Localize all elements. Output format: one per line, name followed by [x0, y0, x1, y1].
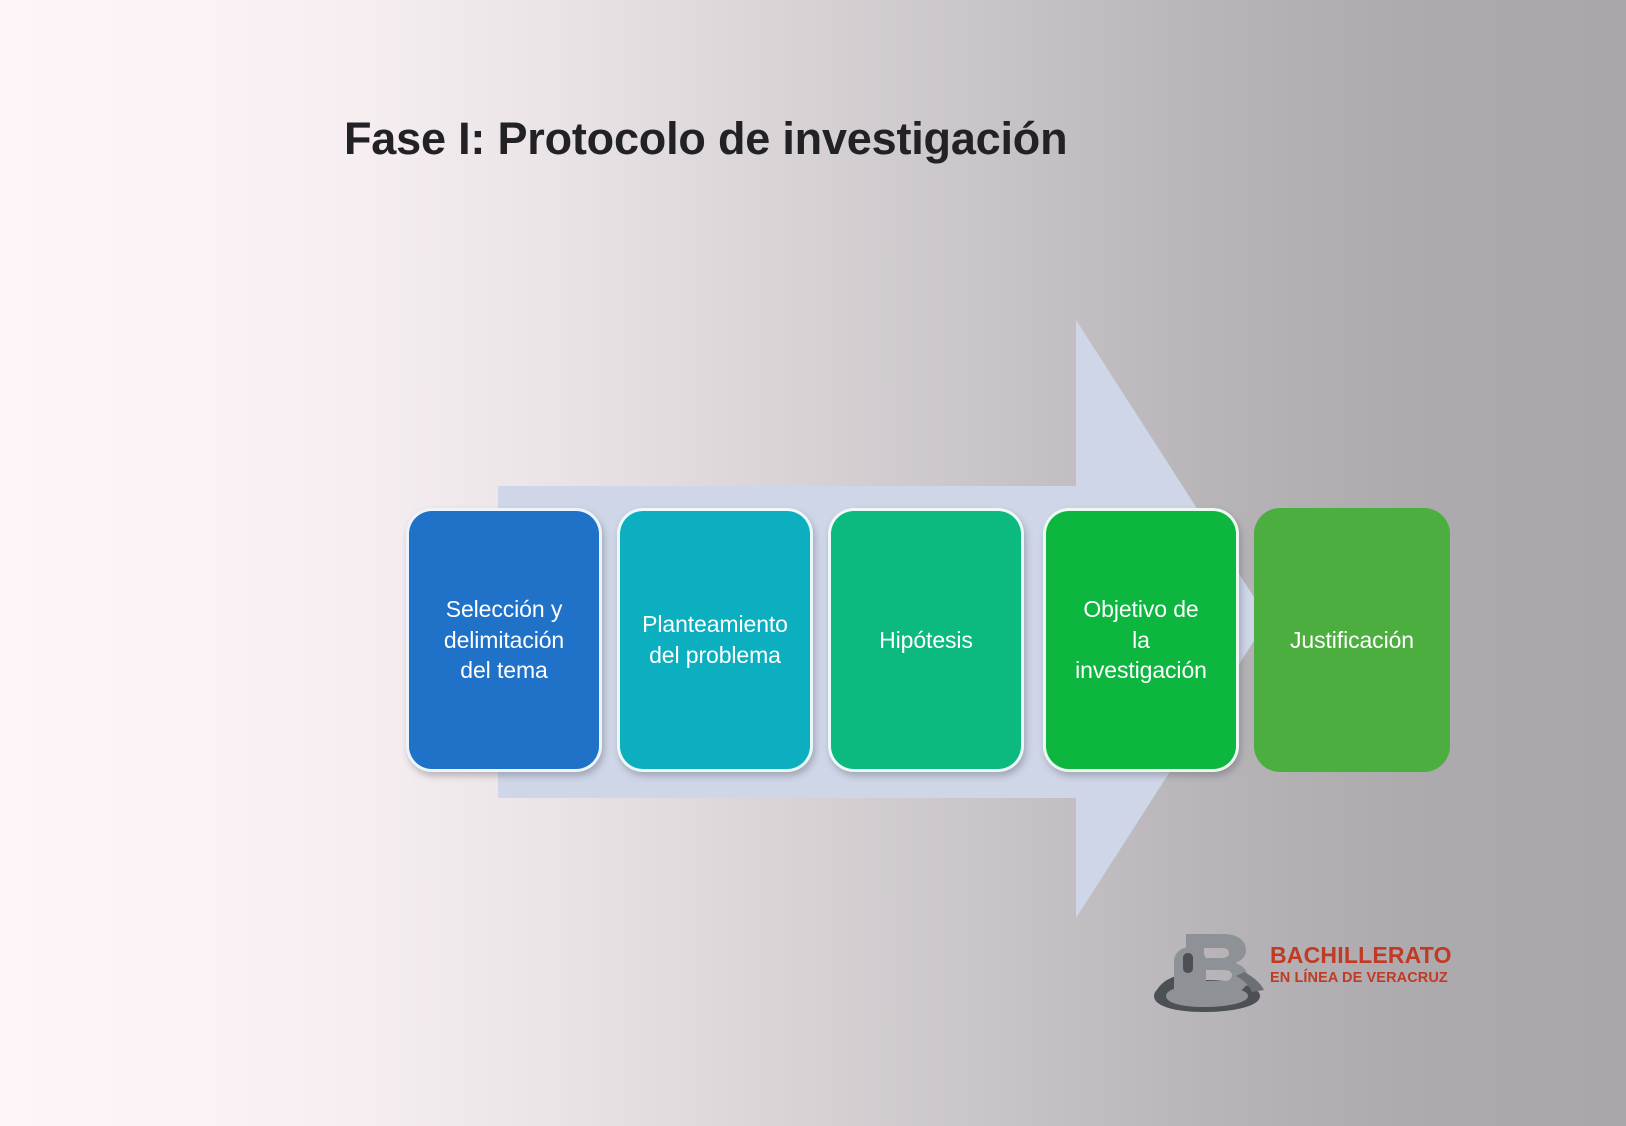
process-step-5[interactable]: Justificación — [1254, 508, 1450, 772]
bachillerato-emblem-icon — [1148, 926, 1268, 1014]
process-step-3-label: Hipótesis — [879, 625, 973, 656]
process-step-1-label: Selección y delimitación del tema — [444, 594, 564, 686]
page-title: Fase I: Protocolo de investigación — [344, 114, 1067, 164]
logo-text: BACHILLERATO EN LÍNEA DE VERACRUZ — [1270, 944, 1420, 986]
logo-mouse-button — [1183, 953, 1193, 973]
process-step-1[interactable]: Selección y delimitación del tema — [406, 508, 602, 772]
slide-canvas: Fase I: Protocolo de investigación Selec… — [0, 0, 1626, 1126]
process-step-4[interactable]: Objetivo de la investigación — [1043, 508, 1239, 772]
process-step-4-label: Objetivo de la investigación — [1075, 594, 1207, 686]
logo-tagline: EN LÍNEA DE VERACRUZ — [1270, 971, 1420, 986]
process-step-2-label: Planteamiento del problema — [642, 609, 788, 671]
process-step-2[interactable]: Planteamiento del problema — [617, 508, 813, 772]
logo: BACHILLERATO EN LÍNEA DE VERACRUZ — [1148, 920, 1416, 1016]
process-steps: Selección y delimitación del tema Plante… — [406, 508, 1452, 772]
process-step-5-label: Justificación — [1290, 625, 1414, 656]
process-step-3[interactable]: Hipótesis — [828, 508, 1024, 772]
logo-name: BACHILLERATO — [1270, 944, 1420, 967]
